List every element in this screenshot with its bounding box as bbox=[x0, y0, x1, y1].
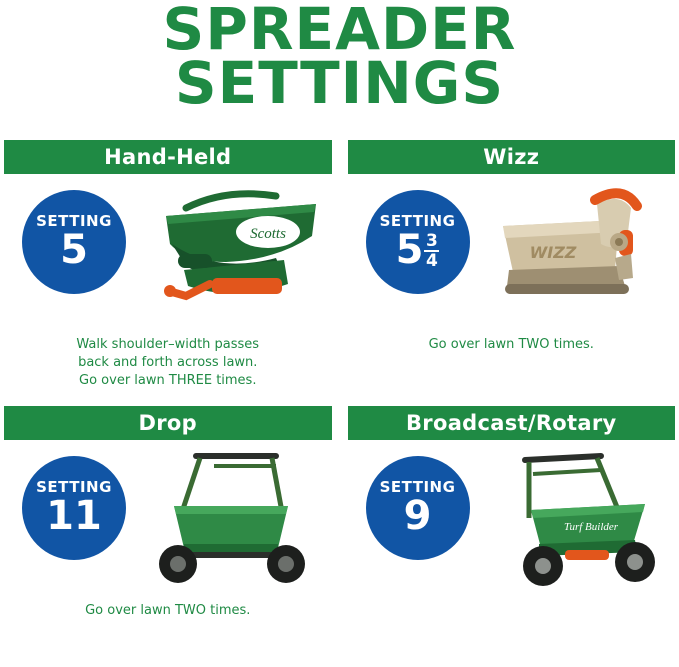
section-wizz-setting-badge: SETTING 5 3 4 bbox=[366, 190, 470, 294]
badge-number: 11 bbox=[46, 496, 102, 536]
caption-line: back and forth across lawn. bbox=[4, 354, 332, 372]
product-logo-text: WIZZ bbox=[530, 243, 577, 262]
section-wizz: Wizz SETTING 5 3 4 bbox=[340, 140, 679, 390]
product-logo-text: Scotts bbox=[250, 226, 286, 242]
section-hand-held-banner: Hand-Held bbox=[4, 140, 332, 174]
caption-line: Go over lawn TWO times. bbox=[348, 336, 676, 354]
section-drop-caption: Go over lawn TWO times. bbox=[4, 602, 332, 620]
badge-number-whole: 11 bbox=[46, 496, 102, 536]
section-hand-held: Hand-Held SETTING 5 bbox=[0, 140, 340, 390]
badge-number: 5 3 4 bbox=[396, 230, 440, 270]
section-hand-held-setting-badge: SETTING 5 bbox=[22, 190, 126, 294]
section-hand-held-content: SETTING 5 bbox=[4, 174, 332, 334]
section-drop-setting-badge: SETTING 11 bbox=[22, 456, 126, 560]
drop-spreader-icon bbox=[126, 440, 326, 600]
section-drop-content: SETTING 11 bbox=[4, 440, 332, 600]
section-broadcast-rotary-content: SETTING 9 Turf Build bbox=[348, 440, 676, 600]
section-wizz-banner: Wizz bbox=[348, 140, 676, 174]
fraction-denominator: 4 bbox=[426, 253, 438, 269]
fraction-numerator: 3 bbox=[426, 233, 438, 249]
product-logo-text: Turf Builder bbox=[564, 521, 619, 533]
badge-number-fraction: 3 4 bbox=[424, 233, 439, 269]
caption-line: Walk shoulder–width passes bbox=[4, 336, 332, 354]
section-drop: Drop SETTING 11 bbox=[0, 406, 340, 620]
handheld-spreader-icon: Scotts bbox=[126, 174, 326, 334]
section-hand-held-caption: Walk shoulder–width passes back and fort… bbox=[4, 336, 332, 390]
wizz-spreader-icon: WIZZ bbox=[469, 174, 669, 334]
badge-number-whole: 5 bbox=[396, 230, 424, 270]
badge-number: 5 bbox=[60, 230, 88, 270]
spreader-settings-grid: Hand-Held SETTING 5 bbox=[0, 140, 679, 620]
section-wizz-caption: Go over lawn TWO times. bbox=[348, 336, 676, 354]
caption-line: Go over lawn TWO times. bbox=[4, 602, 332, 620]
badge-number-whole: 5 bbox=[60, 230, 88, 270]
section-broadcast-rotary-banner: Broadcast/Rotary bbox=[348, 406, 676, 440]
grid-row-2: Drop SETTING 11 bbox=[0, 406, 679, 620]
badge-number: 9 bbox=[404, 496, 432, 536]
page-title-line-2: SETTINGS bbox=[0, 56, 679, 110]
page-title-line-1: SPREADER bbox=[0, 2, 679, 56]
caption-line: Go over lawn THREE times. bbox=[4, 372, 332, 390]
section-wizz-content: SETTING 5 3 4 bbox=[348, 174, 676, 334]
section-drop-banner: Drop bbox=[4, 406, 332, 440]
section-broadcast-rotary-setting-badge: SETTING 9 bbox=[366, 456, 470, 560]
page-title: SPREADER SETTINGS bbox=[0, 0, 679, 110]
section-broadcast-rotary: Broadcast/Rotary SETTING 9 bbox=[340, 406, 679, 620]
broadcast-spreader-icon: Turf Builder bbox=[469, 440, 669, 600]
badge-number-whole: 9 bbox=[404, 496, 432, 536]
grid-row-1: Hand-Held SETTING 5 bbox=[0, 140, 679, 390]
